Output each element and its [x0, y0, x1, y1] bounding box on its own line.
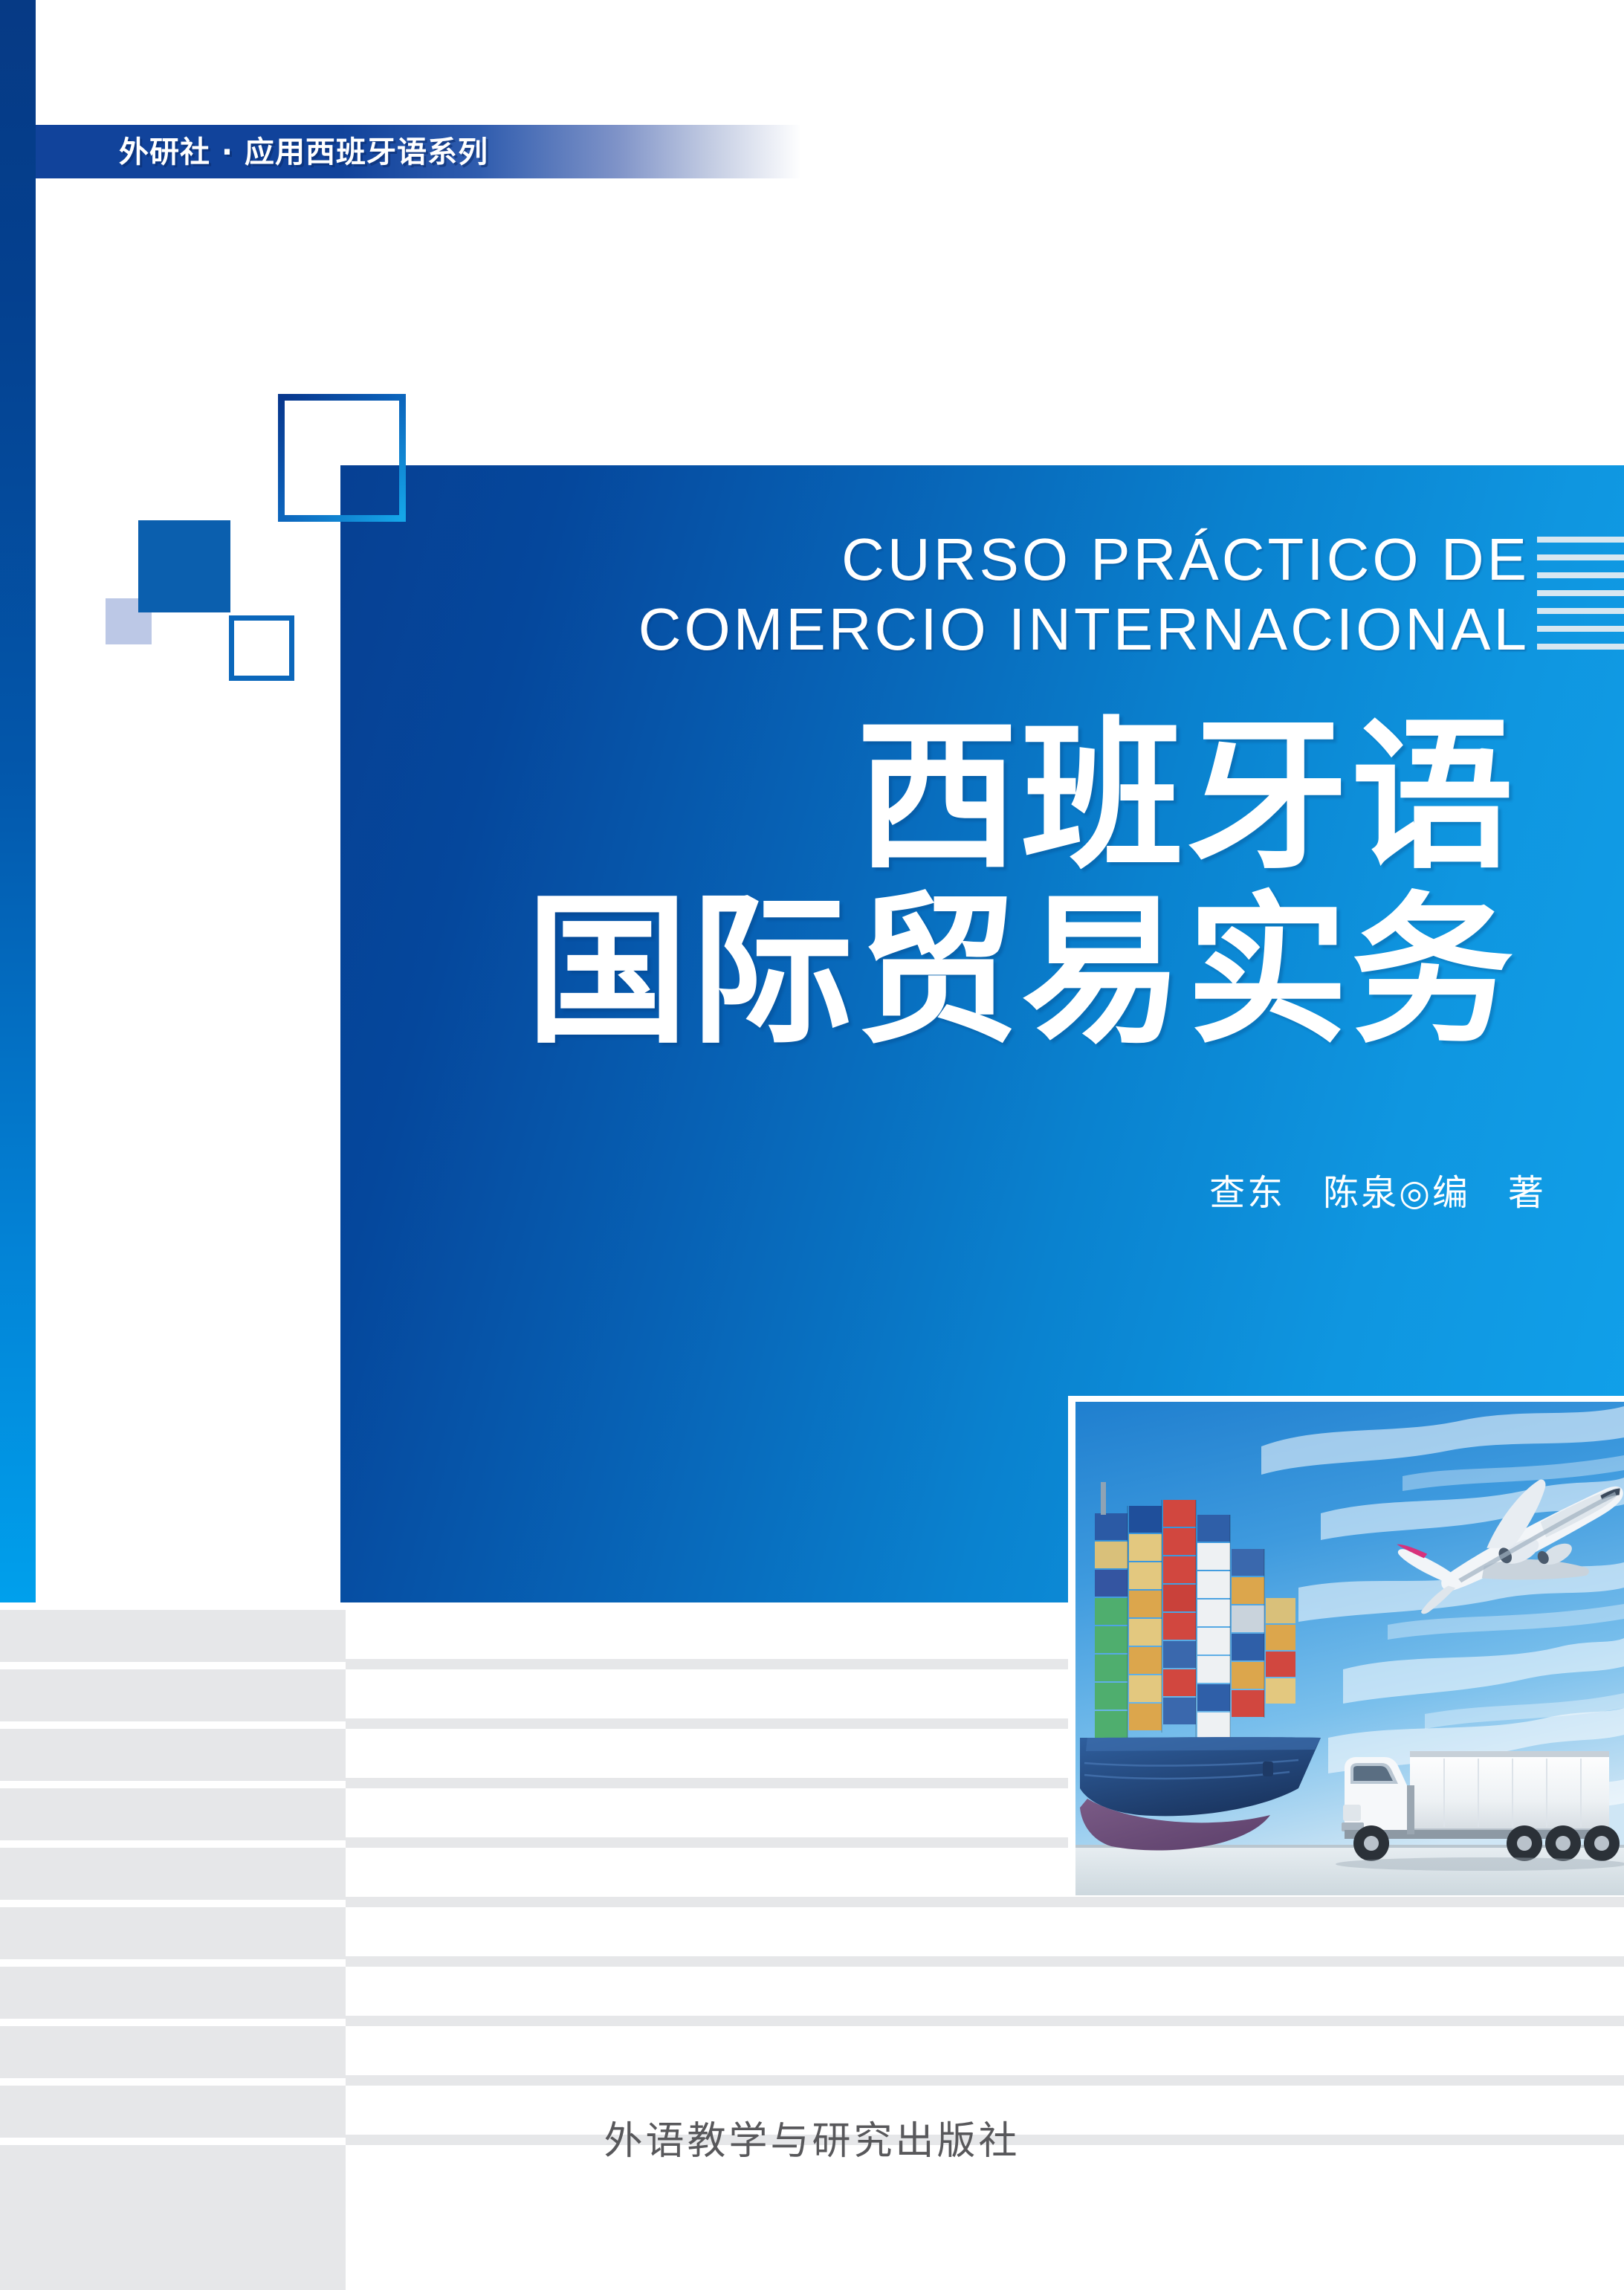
author-line: 查东 陈泉◎编 著	[714, 1163, 1546, 1215]
logistics-photo	[1075, 1402, 1624, 1895]
stripe-bar	[0, 1729, 346, 1781]
stripe-column-left	[0, 1602, 346, 2290]
square-solid-blue-icon	[138, 520, 230, 612]
publisher-name: 外语教学与研究出版社	[0, 2109, 1624, 2165]
rule-line	[1537, 590, 1624, 596]
stripe-bar	[0, 2026, 346, 2078]
cover-photo-frame	[1068, 1396, 1624, 1895]
stripe-line	[346, 2016, 1624, 2026]
stripe-bar	[0, 1788, 346, 1840]
stripe-line	[346, 2075, 1624, 2086]
chinese-title-line-1: 西班牙语	[416, 710, 1516, 884]
rule-line	[1537, 608, 1624, 614]
spanish-title: CURSO PRÁCTICO DE COMERCIO INTERNACIONAL	[416, 525, 1530, 665]
stripe-solid-block	[0, 2145, 346, 2290]
decorative-rule-lines	[1537, 537, 1624, 662]
rule-line	[1537, 554, 1624, 560]
rule-line	[1537, 572, 1624, 578]
spanish-title-line-2: COMERCIO INTERNACIONAL	[416, 595, 1530, 664]
stripe-bar	[0, 1907, 346, 1959]
square-outline-cyan-icon	[278, 394, 406, 522]
logistics-illustration-icon	[1075, 1402, 1624, 1895]
rule-line	[1537, 626, 1624, 632]
series-banner-label: 外研社 · 应用西班牙语系列	[119, 132, 488, 172]
book-cover: 外研社 · 应用西班牙语系列 CURSO PRÁCTICO DE COMERCI…	[0, 0, 1624, 2290]
stripe-bar	[0, 1610, 346, 1662]
stripe-bar	[0, 1967, 346, 2019]
chinese-title-line-2: 国际贸易实务	[416, 884, 1516, 1059]
rule-line	[1537, 537, 1624, 543]
spanish-title-line-1: CURSO PRÁCTICO DE	[416, 525, 1530, 595]
stripe-bar	[0, 1669, 346, 1721]
square-outline-blue-icon	[229, 615, 294, 681]
stripe-bar	[0, 1848, 346, 1900]
stripe-line	[346, 1956, 1624, 1967]
stripe-line	[346, 1897, 1624, 1907]
rule-line	[1537, 644, 1624, 650]
left-gradient-spine	[0, 0, 36, 1604]
chinese-title: 西班牙语 国际贸易实务	[416, 710, 1516, 1060]
